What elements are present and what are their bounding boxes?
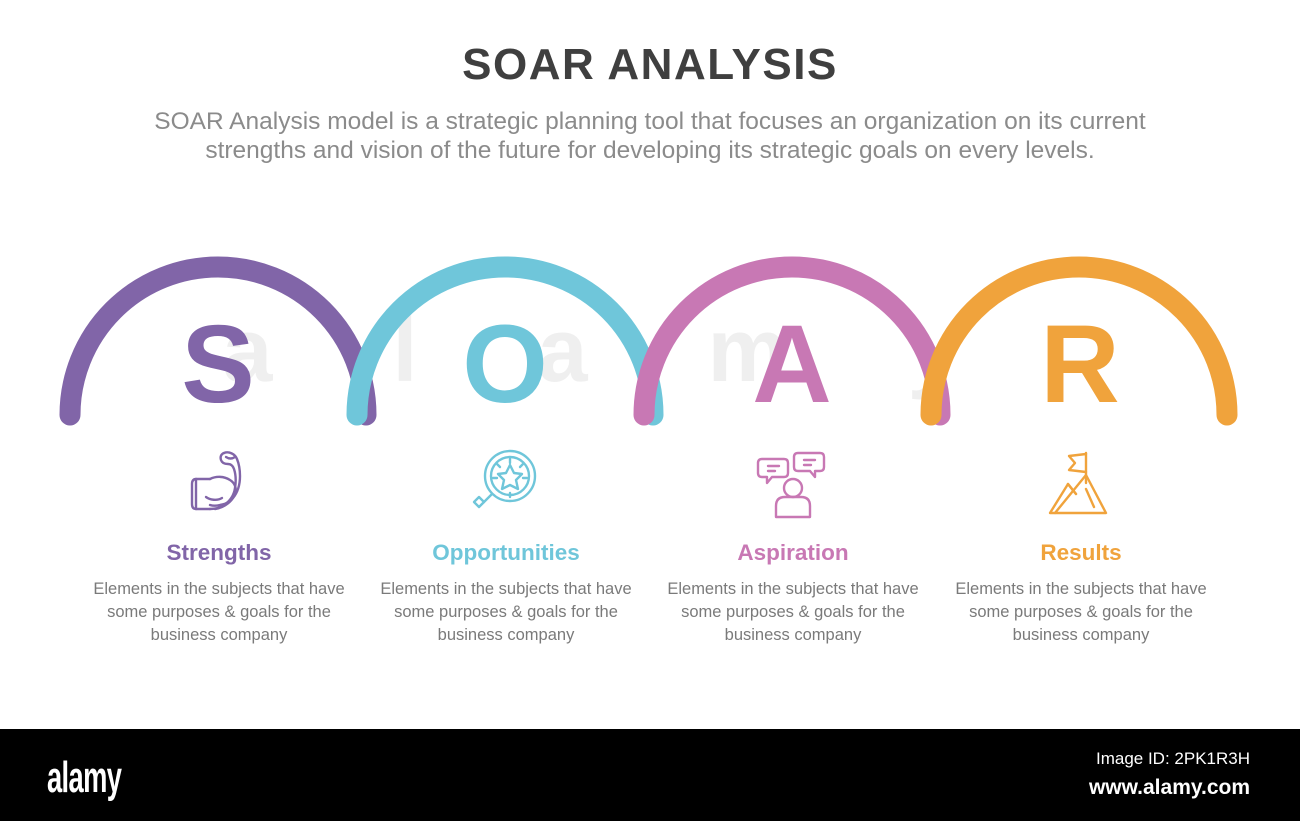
page-subtitle: SOAR Analysis model is a strategic plann… xyxy=(115,108,1185,166)
alamy-logo: alamy xyxy=(47,753,121,803)
column-desc-opportunities: Elements in the subjects that have some … xyxy=(361,578,651,646)
column-opportunities[interactable]: Opportunities Elements in the subjects t… xyxy=(361,440,651,646)
image-id-label: Image ID: 2PK1R3H xyxy=(950,749,1250,769)
column-desc-aspiration: Elements in the subjects that have some … xyxy=(648,578,938,646)
alamy-website-label: www.alamy.com xyxy=(950,776,1250,800)
muscle-flex-icon xyxy=(74,440,364,526)
letter-a: A xyxy=(692,310,892,420)
watermark-footer-bar: alamy Image ID: 2PK1R3H www.alamy.com xyxy=(0,729,1300,821)
magnifier-star-icon xyxy=(361,440,651,526)
letter-s: S xyxy=(118,310,318,420)
column-results[interactable]: Results Elements in the subjects that ha… xyxy=(936,440,1226,646)
soar-letters: S O A R xyxy=(0,230,1300,430)
letter-r: R xyxy=(980,310,1180,420)
mountain-flag-icon xyxy=(936,440,1226,526)
column-strengths[interactable]: Strengths Elements in the subjects that … xyxy=(74,440,364,646)
column-title-aspiration: Aspiration xyxy=(648,540,938,566)
column-desc-results: Elements in the subjects that have some … xyxy=(936,578,1226,646)
page-title: SOAR ANALYSIS xyxy=(0,40,1300,90)
infographic-page: SOAR ANALYSIS SOAR Analysis model is a s… xyxy=(0,0,1300,821)
column-title-strengths: Strengths xyxy=(74,540,364,566)
letter-o: O xyxy=(405,310,605,420)
column-aspiration[interactable]: Aspiration Elements in the subjects that… xyxy=(648,440,938,646)
person-speech-bubbles-icon xyxy=(648,440,938,526)
column-title-opportunities: Opportunities xyxy=(361,540,651,566)
column-title-results: Results xyxy=(936,540,1226,566)
column-desc-strengths: Elements in the subjects that have some … xyxy=(74,578,364,646)
soar-columns: Strengths Elements in the subjects that … xyxy=(0,440,1300,670)
